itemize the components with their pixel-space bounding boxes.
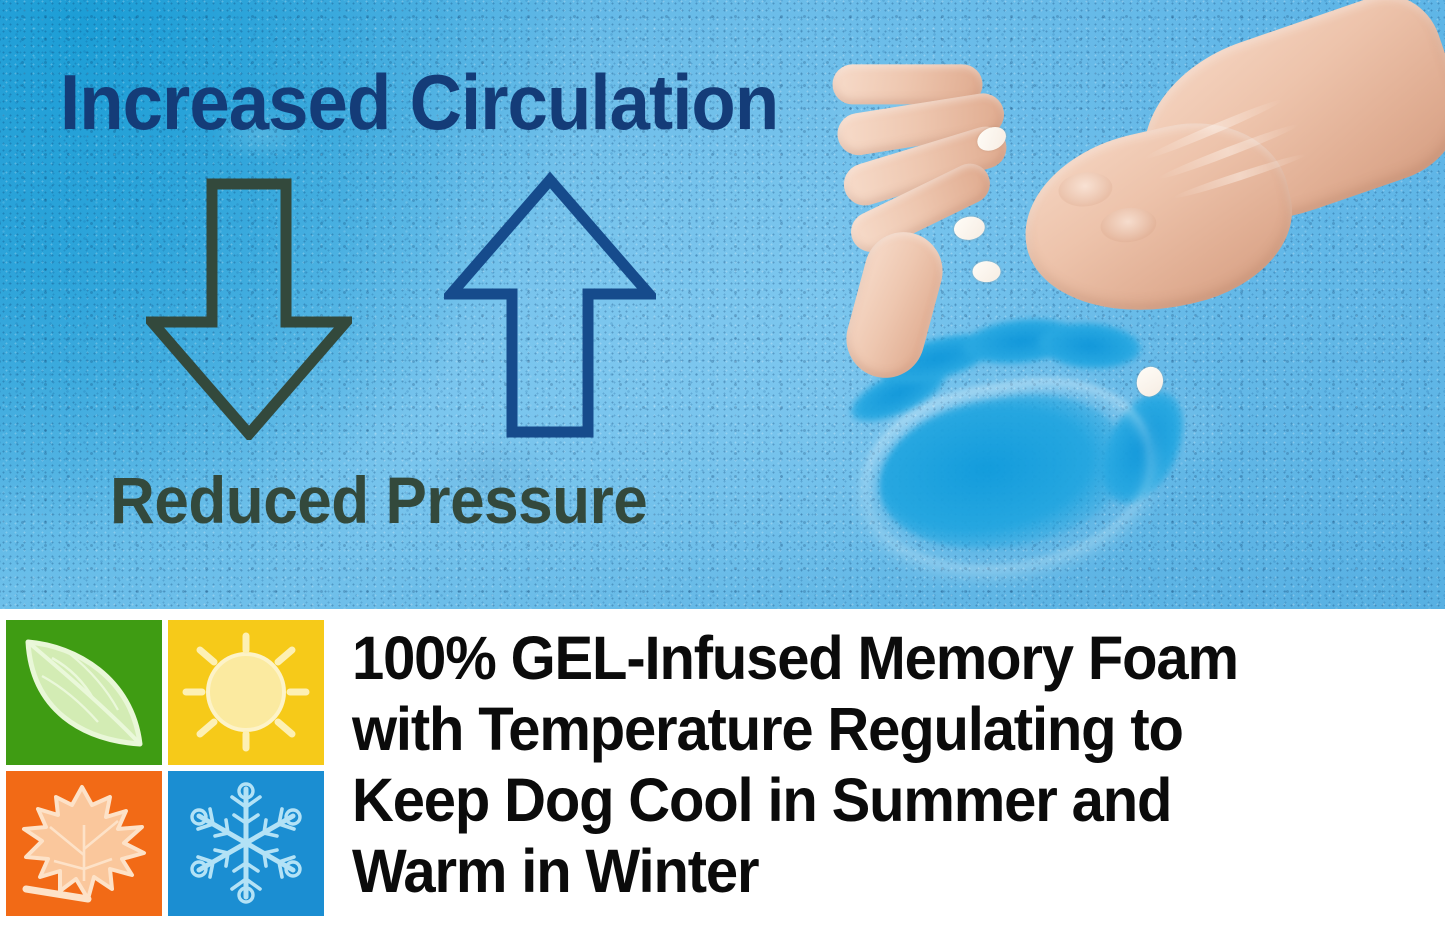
season-tile-spring: [6, 620, 162, 765]
product-feature-banner: Increased Circulation Reduced Pressure: [0, 0, 1445, 927]
memory-foam-photo: Increased Circulation Reduced Pressure: [0, 0, 1445, 609]
feature-info-panel: 100% GEL-Infused Memory Foam with Temper…: [0, 609, 1445, 927]
snowflake-icon: [168, 771, 324, 916]
increased-circulation-label: Increased Circulation: [60, 57, 778, 148]
season-tile-autumn: [6, 771, 162, 916]
leaf-icon: [6, 620, 162, 765]
thumb-nail: [1133, 364, 1166, 400]
down-arrow-icon: [146, 178, 352, 445]
ring-nail: [952, 214, 986, 242]
sun-icon: [168, 620, 324, 765]
hand: [831, 10, 1445, 431]
headline-line-1: 100% GEL-Infused Memory Foam: [352, 623, 1383, 694]
headline-copy: 100% GEL-Infused Memory Foam with Temper…: [352, 623, 1437, 907]
season-tile-winter: [168, 771, 324, 916]
four-season-icon-grid: [6, 620, 330, 916]
thumb: [838, 223, 952, 386]
headline-line-3: Keep Dog Cool in Summer and: [352, 765, 1383, 836]
headline-line-2: with Temperature Regulating to: [352, 694, 1383, 765]
pinky-nail: [973, 261, 1001, 282]
season-tile-summer: [168, 620, 324, 765]
maple-leaf-icon: [6, 771, 162, 916]
headline-line-4: Warm in Winter: [352, 836, 1383, 907]
reduced-pressure-label: Reduced Pressure: [110, 462, 647, 538]
up-arrow-icon: [444, 172, 656, 445]
